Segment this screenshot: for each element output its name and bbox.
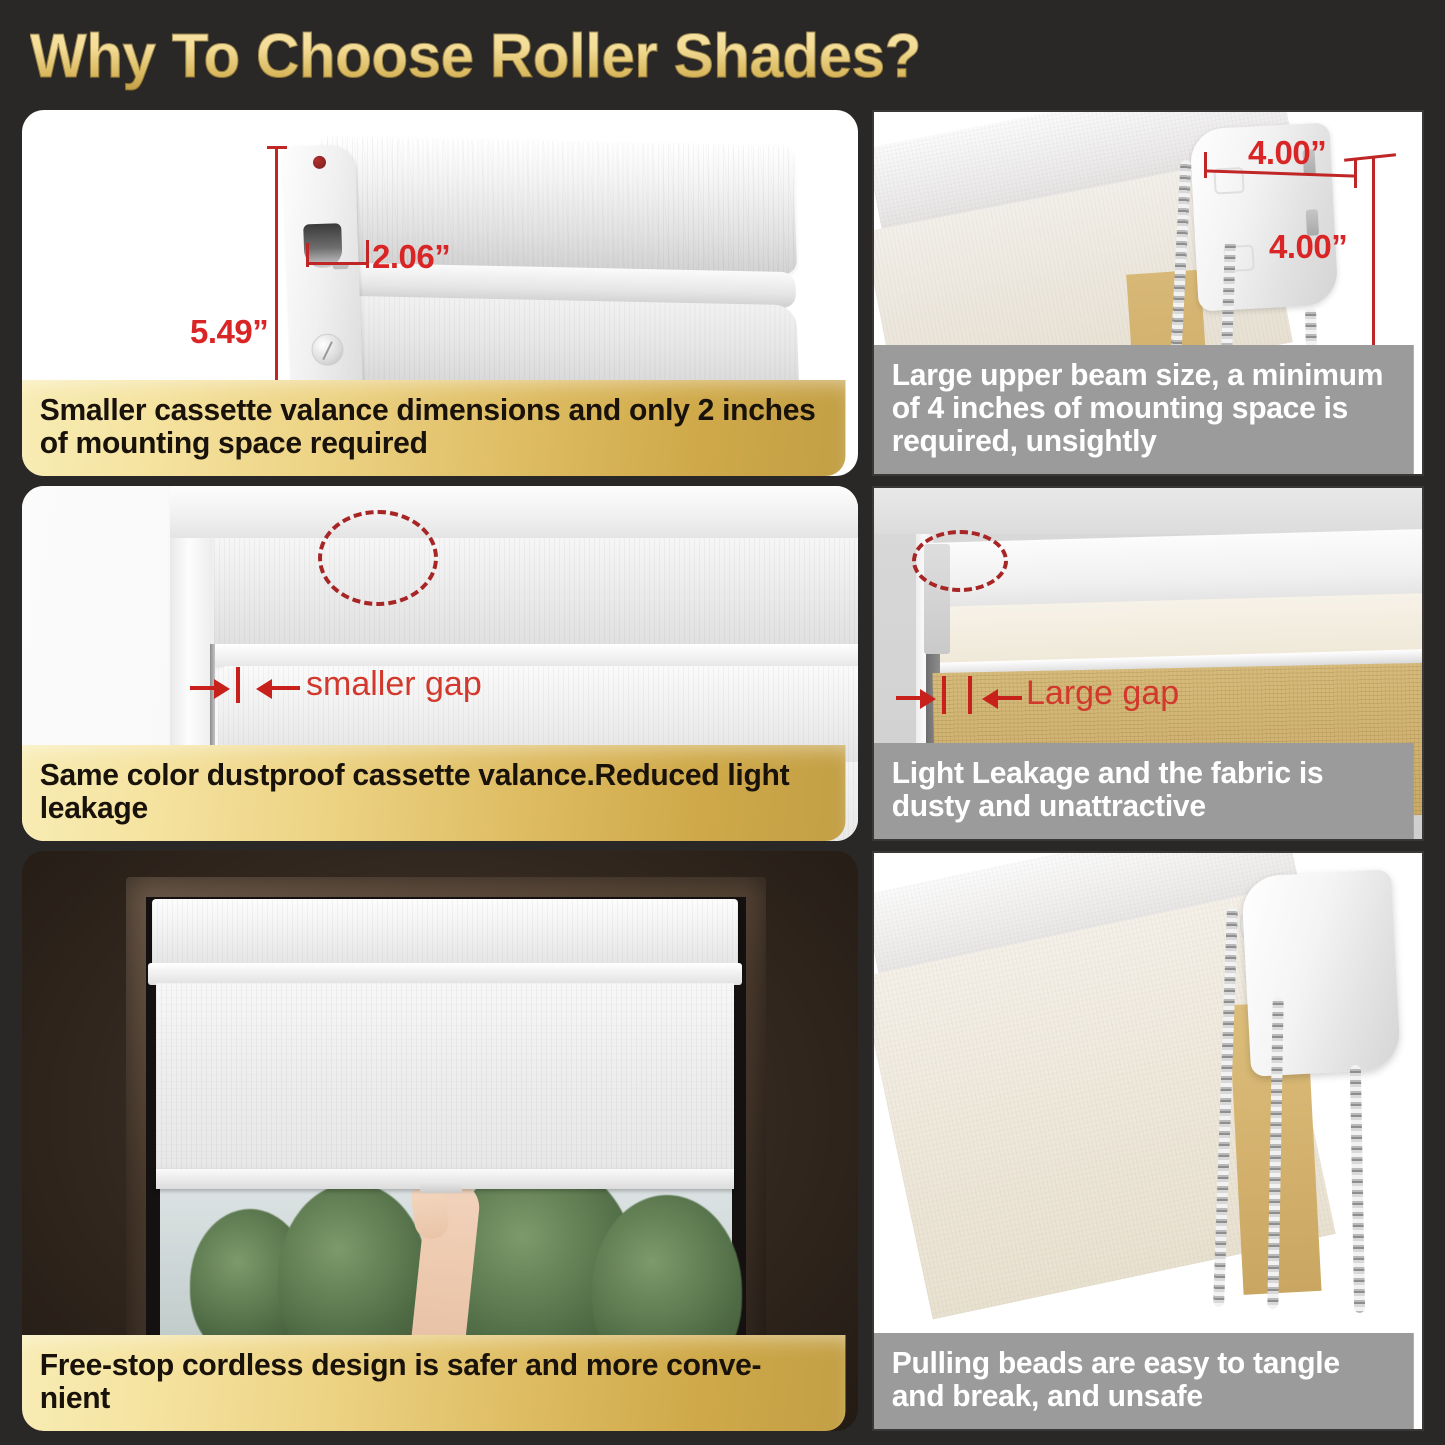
bead-chain-right bbox=[1350, 1065, 1365, 1313]
gap-arrow-stem-right bbox=[272, 686, 300, 690]
panel-caption: Smaller cassette valance dimensions and … bbox=[22, 380, 845, 476]
panel-large-beam: 4.00” 4.00” Large upper beam size, a min… bbox=[872, 110, 1424, 476]
panel-caption: Pulling beads are easy to tangle and bre… bbox=[874, 1333, 1414, 1429]
shade-rail bbox=[214, 644, 858, 666]
panel-caption: Large upper beam size, a minimum of 4 in… bbox=[874, 345, 1414, 474]
panel-caption: Light Leakage and the fabric is dusty an… bbox=[874, 743, 1414, 839]
page-title-text: Why To Choose Roller Shades? bbox=[30, 18, 1291, 96]
gap-arrow-right-icon bbox=[214, 679, 230, 699]
beam-width-tick-right bbox=[1354, 160, 1357, 188]
wall-surface bbox=[874, 488, 1422, 534]
gap-label: Large gap bbox=[1026, 674, 1179, 713]
beam-height-label: 4.00” bbox=[1269, 228, 1347, 266]
height-tick-top bbox=[267, 146, 287, 149]
shade-fabric-body bbox=[156, 983, 734, 1187]
gap-marker-bar bbox=[236, 667, 240, 703]
panel-caption: Free-stop cordless design is safer and m… bbox=[22, 1335, 845, 1431]
panel-cordless-design: Free-stop cordless design is safer and m… bbox=[22, 851, 858, 1431]
shade-pull-tab bbox=[420, 1181, 462, 1193]
gap-arrow-stem-left bbox=[190, 686, 216, 690]
panel-light-leakage: Large gap Light Leakage and the fabric i… bbox=[872, 486, 1424, 841]
width-dimension-line bbox=[306, 262, 368, 265]
valance-end-bracket bbox=[282, 145, 363, 399]
beam-width-label: 4.00” bbox=[1248, 134, 1326, 172]
panel-caption: Same color dustproof cassette valance.Re… bbox=[22, 745, 845, 841]
shade-upper-panel bbox=[214, 538, 858, 644]
highlight-circle-icon bbox=[318, 510, 438, 606]
gap-marker-bar-inner bbox=[968, 676, 972, 714]
mounting-bracket bbox=[1241, 869, 1401, 1077]
panel-cassette-dimensions: 5.49” 2.06” Smaller cassette valance dim… bbox=[22, 110, 858, 476]
bracket-screw-icon bbox=[311, 333, 344, 366]
panel-smaller-gap: smaller gap Same color dustproof cassett… bbox=[22, 486, 858, 841]
page-title: Why To Choose Roller Shades? bbox=[30, 18, 1330, 96]
beam-width-tick-left bbox=[1204, 152, 1207, 178]
beam-height-line bbox=[1372, 156, 1375, 354]
gap-arrow-right-icon bbox=[920, 689, 936, 709]
cassette-valance-illustration bbox=[282, 129, 811, 417]
width-tick-left bbox=[306, 243, 309, 267]
panel-pulling-beads: Pulling beads are easy to tangle and bre… bbox=[872, 851, 1424, 1431]
height-dimension-label: 5.49” bbox=[190, 313, 268, 351]
gap-arrow-left-icon bbox=[256, 679, 272, 699]
gap-arrow-stem-left bbox=[896, 696, 922, 700]
red-bolt-icon bbox=[313, 156, 326, 169]
infographic-root: Why To Choose Roller Shades? bbox=[0, 0, 1445, 1445]
width-tick-right bbox=[366, 240, 369, 268]
window-head-casing bbox=[170, 486, 858, 538]
comparison-grid: 5.49” 2.06” Smaller cassette valance dim… bbox=[0, 104, 1445, 1445]
gap-arrow-left-icon bbox=[982, 689, 998, 709]
width-dimension-label: 2.06” bbox=[372, 238, 450, 276]
shade-cassette-lip bbox=[148, 963, 742, 985]
gap-label: smaller gap bbox=[306, 665, 482, 704]
gap-marker-bar-outer bbox=[942, 676, 946, 714]
highlight-circle-icon bbox=[912, 530, 1008, 592]
gap-arrow-stem-right bbox=[998, 696, 1022, 700]
shade-cassette-head bbox=[152, 899, 738, 967]
beam-height-tick-top bbox=[1344, 153, 1396, 161]
